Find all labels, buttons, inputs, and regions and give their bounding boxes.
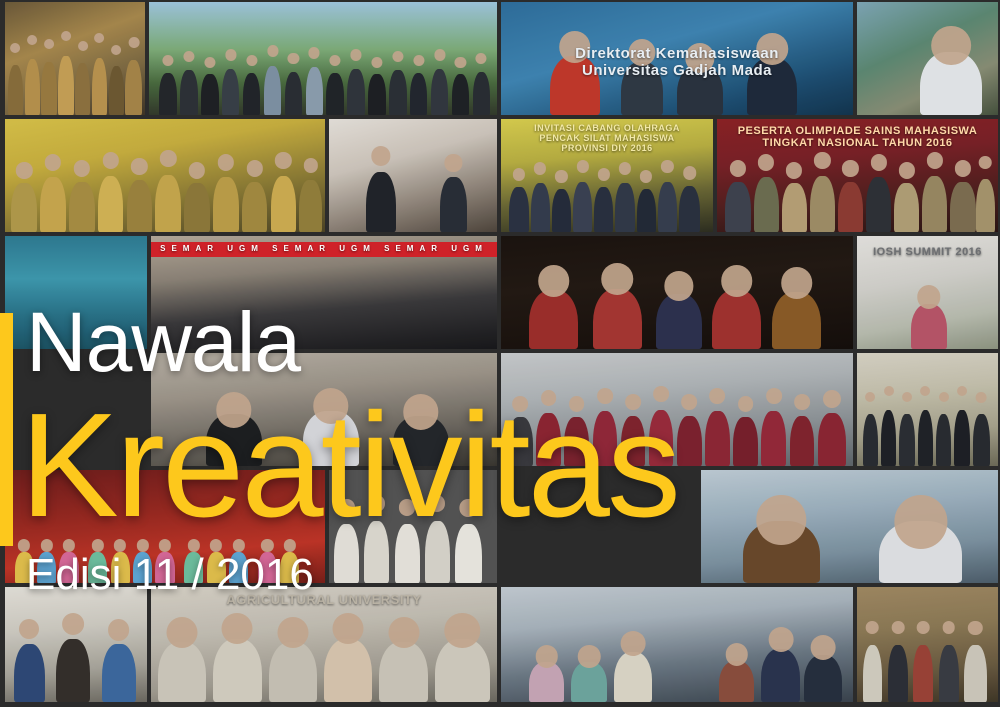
photo-collage: Direktorat Kemahasiswaan Universitas Gad… xyxy=(0,0,1000,707)
photo-veil xyxy=(5,119,325,232)
tile-olimpiade-sains-mahasiswa: PESERTA OLIMPIADE SAINS MAHASISWA TINGKA… xyxy=(717,119,998,232)
photo-veil xyxy=(151,236,497,349)
tile-seminar-speaker-flags xyxy=(329,119,497,232)
photo-veil xyxy=(329,470,497,583)
tile-robot-soccer-team xyxy=(151,353,497,466)
photo-veil xyxy=(501,236,853,349)
photo-veil xyxy=(5,470,325,583)
photo-veil xyxy=(701,470,998,583)
photo-veil xyxy=(5,236,147,349)
tile-iosh-summit-2016: IOSH SUMMIT 2016 xyxy=(857,236,998,349)
tile-traditional-dance-stage xyxy=(5,470,325,583)
photo-veil xyxy=(501,353,853,466)
newsletter-cover: Direktorat Kemahasiswaan Universitas Gad… xyxy=(0,0,1000,707)
photo-veil xyxy=(5,2,145,115)
tile-race-car-team xyxy=(149,2,497,115)
photo-veil xyxy=(151,587,497,702)
tile-maroon-shirt-delegation xyxy=(501,353,853,466)
photo-veil xyxy=(501,119,713,232)
tile-semar-ugm-car: SEMAR UGM SEMAR UGM SEMAR UGM xyxy=(151,236,497,349)
tile-technology-expo-2016 xyxy=(5,587,147,702)
tile-swimmer-butterfly xyxy=(5,236,147,349)
tile-batik-award-recipients xyxy=(501,236,853,349)
tile-martial-arts-trophy xyxy=(329,470,497,583)
photo-veil xyxy=(329,119,497,232)
photo-veil xyxy=(501,2,853,115)
photo-veil xyxy=(717,119,998,232)
photo-veil xyxy=(857,2,998,115)
tile-juara-1-best-poster xyxy=(5,119,325,232)
photo-veil xyxy=(857,353,998,466)
tile-traditional-dancers-award xyxy=(5,2,145,115)
tile-certificate-line-up xyxy=(857,587,998,702)
photo-veil xyxy=(151,353,497,466)
tile-award-ceremony-gadjah-mada: Direktorat Kemahasiswaan Universitas Gad… xyxy=(501,2,853,115)
tile-certificate-handover xyxy=(701,470,998,583)
tile-basketball-team-champion xyxy=(857,353,998,466)
photo-veil xyxy=(501,587,853,702)
tile-pencak-silat-invitation: INVITASI CABANG OLAHRAGA PENCAK SILAT MA… xyxy=(501,119,713,232)
photo-veil xyxy=(857,587,998,702)
photo-veil xyxy=(149,2,497,115)
tile-seminar-panel-flags xyxy=(501,587,853,702)
photo-veil xyxy=(5,587,147,702)
photo-veil xyxy=(857,236,998,349)
tile-agricultural-university-team: AGRICULTURAL UNIVERSITY xyxy=(151,587,497,702)
tile-athlete-medal-u19 xyxy=(857,2,998,115)
